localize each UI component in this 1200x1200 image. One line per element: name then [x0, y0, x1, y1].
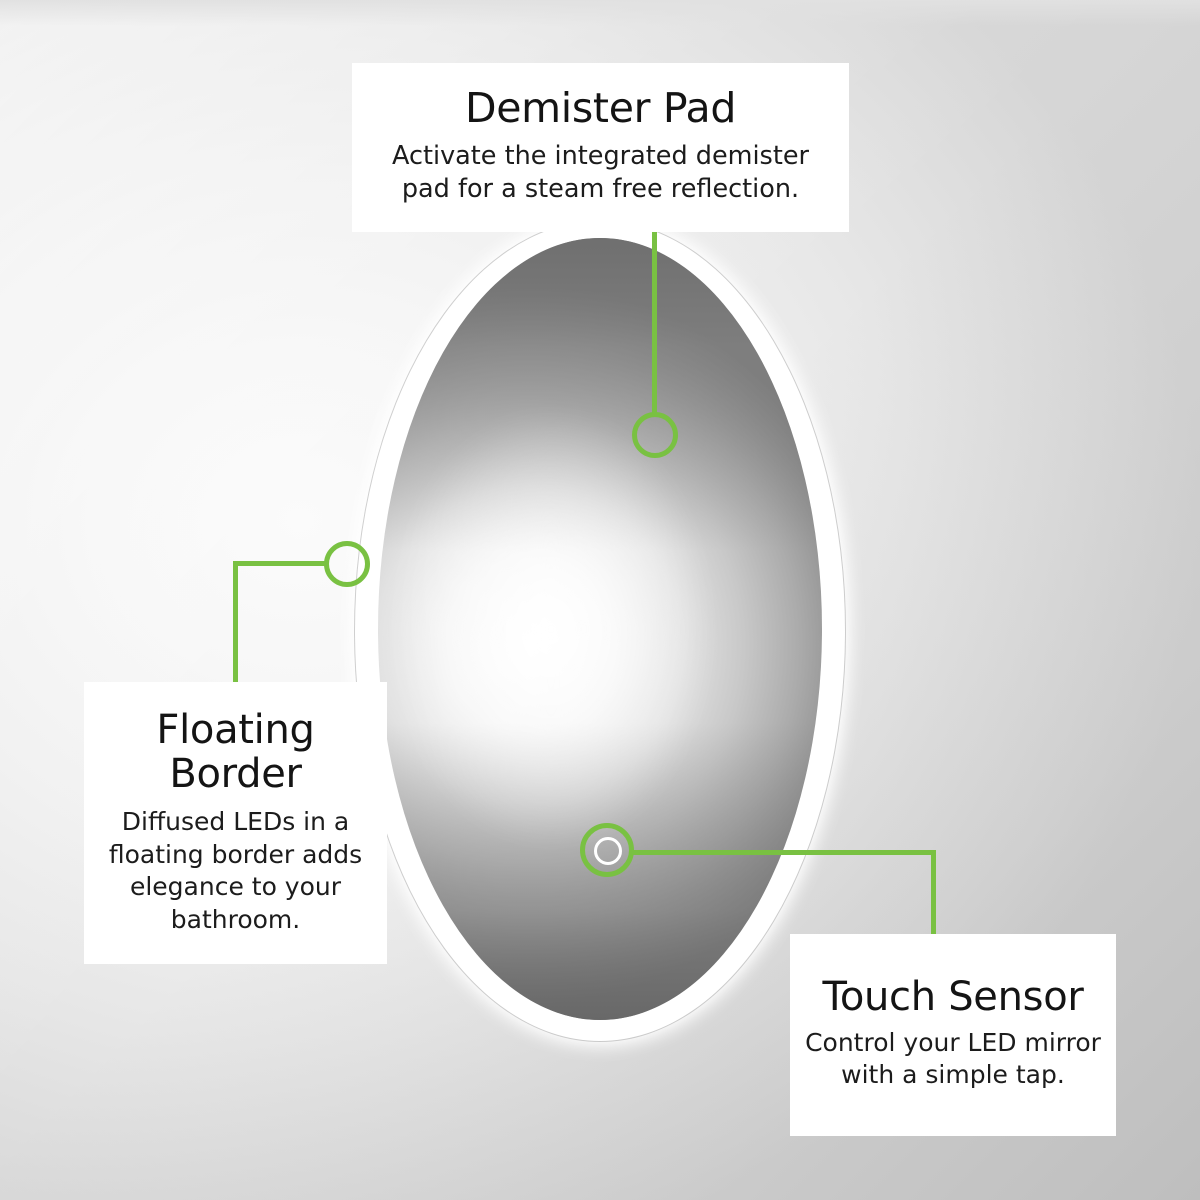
- callout-demister-title: Demister Pad: [465, 87, 736, 130]
- demister-marker-icon[interactable]: [632, 412, 678, 458]
- product-feature-diagram: Demister Pad Activate the integrated dem…: [0, 0, 1200, 1200]
- callout-demister-body: Activate the integrated demister pad for…: [366, 140, 835, 206]
- touch-sensor-inner-ring-icon: [594, 837, 622, 865]
- callout-floating-border-body: Diffused LEDs in a floating border adds …: [96, 806, 375, 936]
- callout-touch-sensor: Touch Sensor Control your LED mirror wit…: [790, 934, 1116, 1136]
- callout-demister-pad: Demister Pad Activate the integrated dem…: [352, 63, 849, 232]
- floating-border-marker-icon[interactable]: [324, 541, 370, 587]
- connector-floating-horizontal: [233, 561, 327, 566]
- connector-touch-vertical: [931, 850, 936, 937]
- callout-touch-sensor-body: Control your LED mirror with a simple ta…: [800, 1027, 1106, 1092]
- oval-mirror-illustration: [348, 214, 852, 1048]
- callout-touch-sensor-title: Touch Sensor: [822, 976, 1083, 1018]
- touch-sensor-marker-icon[interactable]: [580, 823, 634, 877]
- connector-demister-vertical: [652, 231, 657, 415]
- background-top-band: [0, 0, 1200, 26]
- mirror-glass-surface: [378, 238, 822, 1020]
- connector-floating-vertical: [233, 561, 238, 685]
- connector-touch-horizontal: [633, 850, 936, 855]
- mirror-glass-highlight: [387, 410, 716, 848]
- callout-floating-border-title: Floating Border: [96, 708, 375, 796]
- callout-floating-border: Floating Border Diffused LEDs in a float…: [84, 682, 387, 964]
